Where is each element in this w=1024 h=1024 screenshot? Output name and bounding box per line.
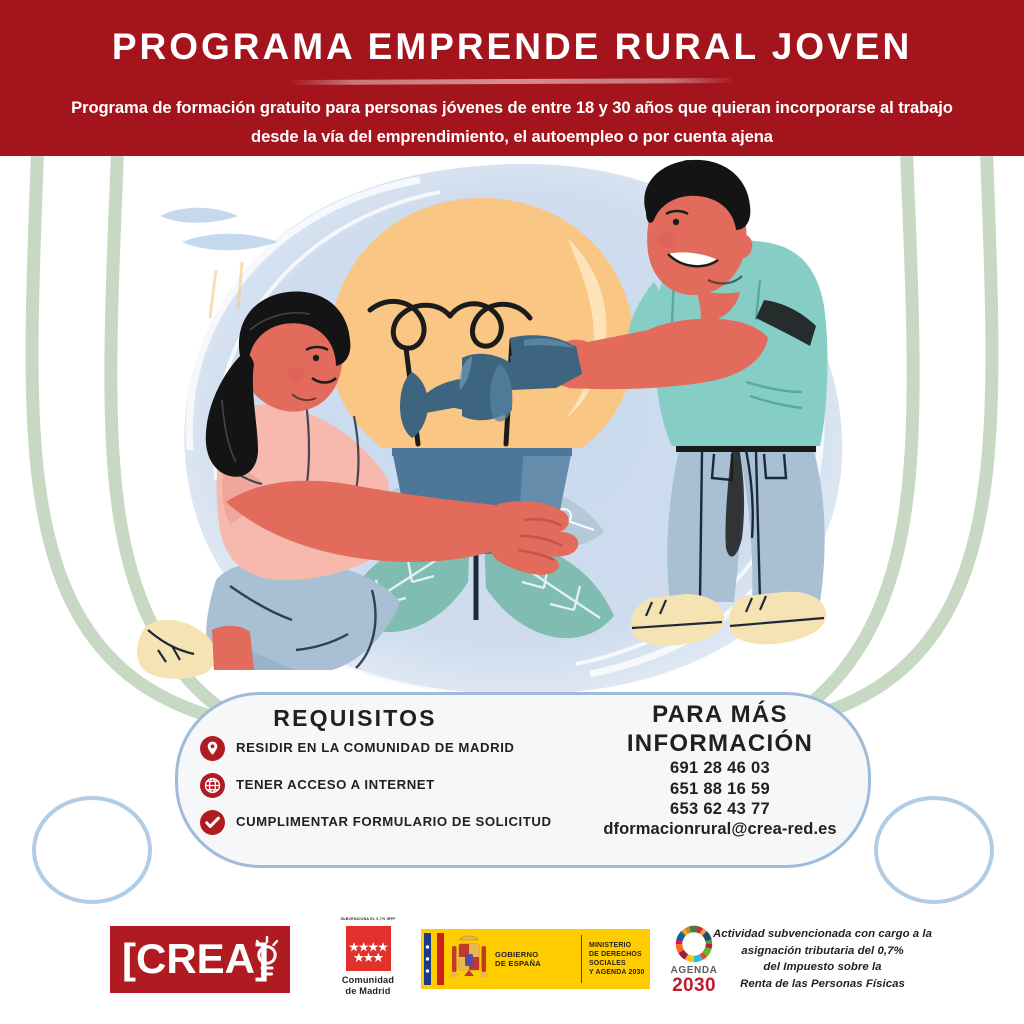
ministerio-line3: Y AGENDA 2030: [589, 968, 650, 977]
phone-number[interactable]: 651 88 16 59: [585, 779, 855, 800]
email-address[interactable]: dformacionrural@crea-red.es: [545, 820, 895, 839]
subsidy-line1: Actividad subvencionada con cargo a la: [705, 926, 940, 943]
ministerio-line1: MINISTERIO: [589, 941, 650, 950]
woman-shoe: [137, 620, 215, 679]
phone-number[interactable]: 691 28 46 03: [585, 758, 855, 779]
spain-flag-icon: [421, 929, 447, 989]
madrid-top-line: SUBVENCIONA EL 0,7% IRPF: [327, 917, 409, 921]
gobierno-espana-logo: GOBIERNO DE ESPAÑA MINISTERIO DE DERECHO…: [421, 929, 650, 989]
requisito-label: TENER ACCESO A INTERNET: [236, 773, 435, 793]
spain-coat-of-arms-icon: [447, 932, 491, 986]
title-underline-stroke: [292, 78, 732, 85]
madrid-name: Comunidad de Madrid: [327, 975, 409, 997]
madrid-stars-icon: [346, 926, 391, 971]
gobierno-text: GOBIERNO DE ESPAÑA: [491, 950, 581, 969]
header-band: PROGRAMA EMPRENDE RURAL JOVEN Programa d…: [0, 0, 1024, 156]
subsidy-line2: asignación tributaria del 0,7%: [705, 943, 940, 960]
requisito-label: RESIDIR EN LA COMUNIDAD DE MADRID: [236, 736, 514, 756]
subsidy-line3: del Impuesto sobre la: [705, 959, 940, 976]
crea-logo: [CREA]: [110, 926, 290, 993]
phone-number[interactable]: 653 62 43 77: [585, 799, 855, 820]
list-item: TENER ACCESO A INTERNET: [200, 773, 620, 799]
requisitos-heading: REQUISITOS: [205, 705, 505, 732]
page-subtitle: Programa de formación gratuito para pers…: [62, 93, 962, 151]
contacto-heading: PARA MÁS INFORMACIÓN: [585, 700, 855, 758]
gobierno-line1: GOBIERNO: [495, 950, 581, 959]
madrid-name-line1: Comunidad: [327, 975, 409, 986]
check-circle-icon: [200, 810, 225, 835]
illustration-people-plant-bulb: [120, 150, 910, 710]
location-pin-icon: [200, 736, 225, 761]
madrid-name-line2: de Madrid: [327, 986, 409, 997]
crea-logo-text: [CREA]: [122, 936, 269, 982]
gobierno-divider: [581, 935, 582, 983]
cloud-shapes: [160, 208, 278, 251]
phone-list: 691 28 46 03 651 88 16 59 653 62 43 77: [585, 758, 855, 820]
subsidy-disclaimer: Actividad subvencionada con cargo a la a…: [705, 926, 940, 992]
madrid-red-square: [346, 926, 391, 971]
page-title: PROGRAMA EMPRENDE RURAL JOVEN: [0, 26, 1024, 68]
comunidad-madrid-logo: SUBVENCIONA EL 0,7% IRPF Comunidad: [327, 917, 409, 1005]
gobierno-line2: DE ESPAÑA: [495, 959, 581, 968]
list-item: RESIDIR EN LA COMUNIDAD DE MADRID: [200, 736, 620, 762]
ministerio-line2: DE DERECHOS SOCIALES: [589, 950, 650, 968]
globe-icon: [200, 773, 225, 798]
lightbulb-icon: [252, 934, 282, 980]
subsidy-line4: Renta de las Personas Físicas: [705, 976, 940, 993]
requisito-label: CUMPLIMENTAR FORMULARIO DE SOLICITUD: [236, 810, 552, 830]
ministerio-text: MINISTERIO DE DERECHOS SOCIALES Y AGENDA…: [582, 941, 650, 977]
poster-root: PROGRAMA EMPRENDE RURAL JOVEN Programa d…: [0, 0, 1024, 1024]
footer-logo-bar: [CREA] SUBVENCIONA EL 0,7% IRPF: [0, 905, 1024, 1024]
